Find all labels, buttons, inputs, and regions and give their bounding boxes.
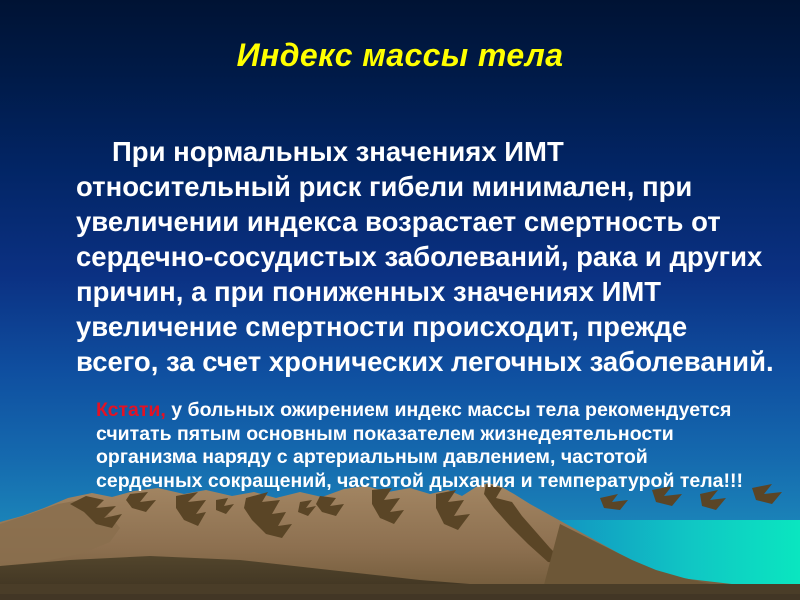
slide-note-paragraph: Кстати, у больных ожирением индекс массы… — [96, 399, 756, 493]
presentation-slide: Индекс массы тела При нормальных значени… — [0, 0, 800, 600]
note-body-text: у больных ожирением индекс массы тела ре… — [96, 399, 743, 492]
mountain-landscape-graphic — [0, 480, 800, 600]
slide-body-paragraph: При нормальных значениях ИМТ относительн… — [76, 134, 776, 379]
note-lead-word: Кстати, — [96, 399, 166, 421]
slide-title: Индекс массы тела — [0, 38, 800, 73]
